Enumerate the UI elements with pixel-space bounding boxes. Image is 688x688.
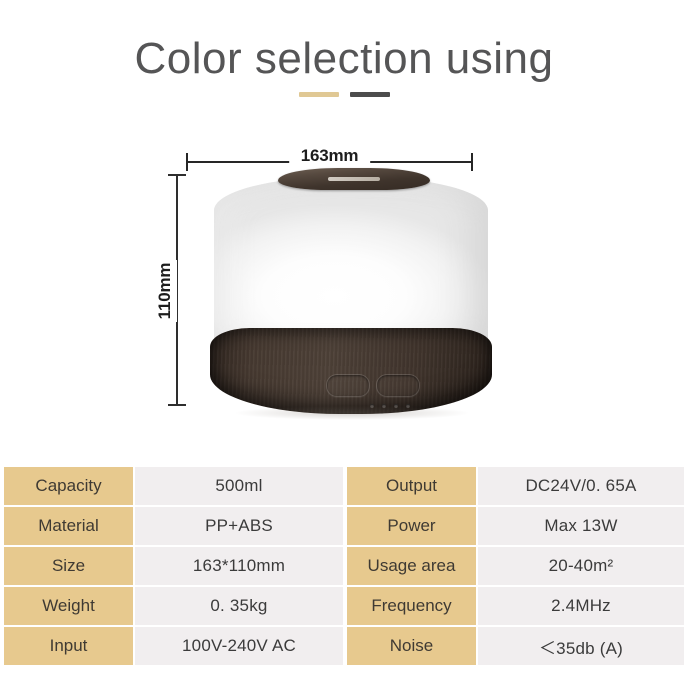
- product-drop-shadow: [236, 406, 468, 420]
- spec-label: Power: [347, 507, 478, 547]
- spec-label: Usage area: [347, 547, 478, 587]
- dimension-cap-bottom: [168, 404, 186, 406]
- spec-label: Frequency: [347, 587, 478, 627]
- diffuser-light-button: [376, 374, 420, 397]
- height-dimension-line: 110mm: [168, 174, 186, 406]
- title-rule-dark: [350, 92, 390, 97]
- spec-label: Material: [4, 507, 135, 547]
- diffuser-mist-vent: [328, 177, 380, 181]
- diffuser-wooden-lid: [278, 168, 430, 190]
- spec-label: Size: [4, 547, 135, 587]
- spec-value: 163*110mm: [135, 547, 343, 587]
- spec-value: ＜35db (A): [478, 627, 684, 667]
- spec-label: Capacity: [4, 467, 135, 507]
- button-caption-right: [375, 364, 419, 371]
- diffuser-wooden-base: [210, 328, 492, 414]
- spec-value: 500ml: [135, 467, 343, 507]
- width-dimension-label: 163mm: [289, 146, 371, 166]
- spec-label: Weight: [4, 587, 135, 627]
- spec-value: 20-40m²: [478, 547, 684, 587]
- title-rule-gold: [299, 92, 339, 97]
- header: Color selection using: [0, 36, 688, 97]
- page-title: Color selection using: [0, 36, 688, 82]
- spec-label: Output: [347, 467, 478, 507]
- spec-label: Noise: [347, 627, 478, 667]
- dimension-cap-top: [168, 174, 186, 176]
- button-caption-left: [325, 364, 369, 371]
- spec-value: Max 13W: [478, 507, 684, 547]
- diffuser-mist-button: [326, 374, 370, 397]
- spec-value: DC24V/0. 65A: [478, 467, 684, 507]
- dimension-cap-left: [186, 153, 188, 171]
- spec-value: 0. 35kg: [135, 587, 343, 627]
- spec-value: 100V-240V AC: [135, 627, 343, 667]
- specification-table: Capacity 500ml Output DC24V/0. 65A Mater…: [4, 467, 684, 667]
- title-underline-rules: [0, 92, 688, 97]
- spec-value: PP+ABS: [135, 507, 343, 547]
- product-figure: 163mm 110mm: [0, 130, 688, 450]
- spec-label: Input: [4, 627, 135, 667]
- spec-value: 2.4MHz: [478, 587, 684, 627]
- product-image-diffuser: [210, 168, 492, 418]
- height-dimension-label: 110mm: [153, 260, 177, 322]
